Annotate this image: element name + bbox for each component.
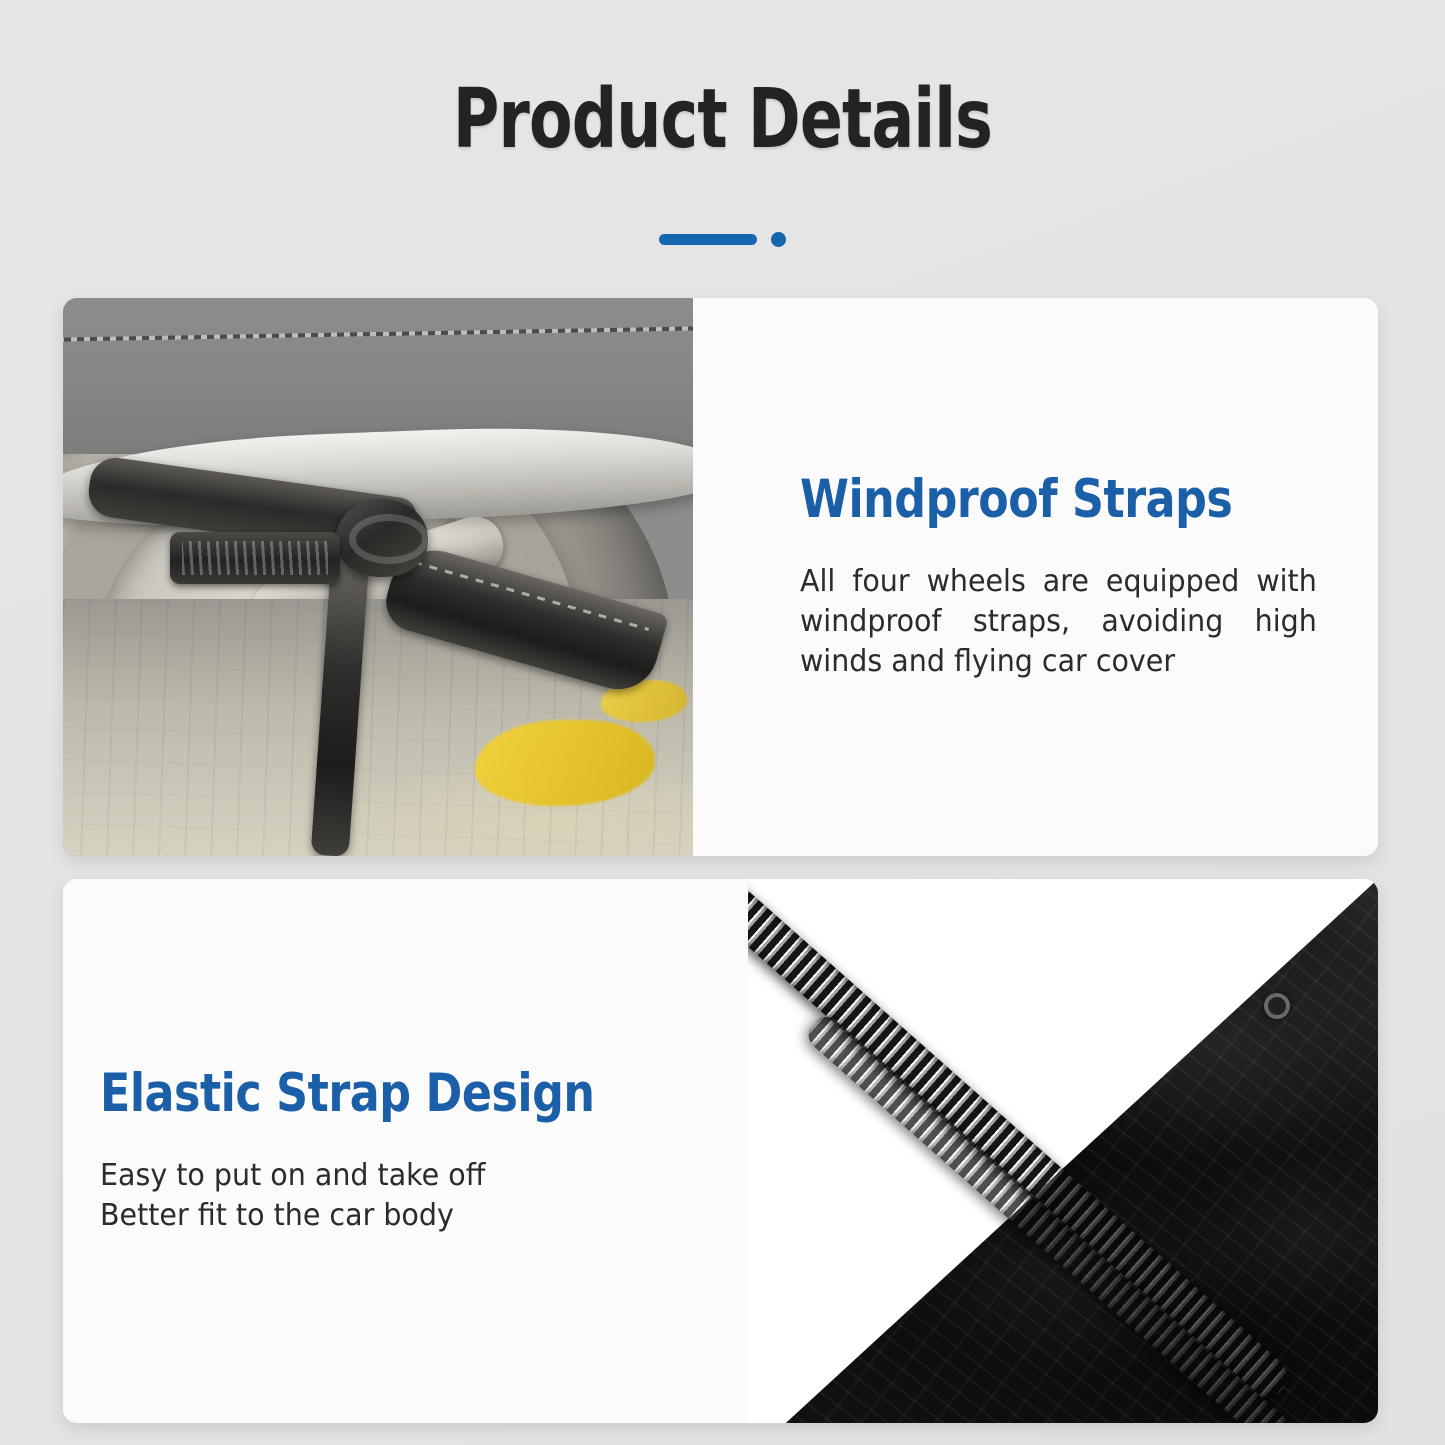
feature-body: Easy to put on and take off Better fit t… bbox=[100, 1156, 663, 1236]
feature-body-line: All four wheels are equipped with bbox=[800, 562, 1317, 602]
feature-body-line: winds and flying car cover bbox=[800, 642, 1317, 682]
black-elastic-hem-photo bbox=[748, 879, 1378, 1423]
photo-scene-wheel bbox=[63, 298, 693, 856]
cover-grommet-icon bbox=[1264, 993, 1290, 1019]
feature-title: Elastic Strap Design bbox=[100, 1066, 651, 1121]
feature-body: All four wheels are equipped with windpr… bbox=[800, 562, 1317, 682]
page-header: Product Details bbox=[0, 0, 1445, 282]
title-divider bbox=[0, 232, 1445, 247]
photo-scene-cloth bbox=[748, 879, 1378, 1423]
strap-knot-shape bbox=[336, 499, 428, 577]
feature-title: Windproof Straps bbox=[800, 472, 1306, 527]
strap-buckle-tag-shape bbox=[170, 532, 340, 584]
feature-card-elastic-strap-design[interactable]: Elastic Strap Design Easy to put on and … bbox=[63, 879, 1378, 1423]
cover-fabric-top-shape bbox=[63, 298, 693, 454]
wheel-strap-knot-photo bbox=[63, 298, 693, 856]
feature-text-pane: Windproof Straps All four wheels are equ… bbox=[693, 298, 1378, 856]
page-title: Product Details bbox=[101, 72, 1344, 167]
divider-dot bbox=[771, 232, 786, 247]
black-cover-fabric-shape bbox=[748, 879, 1378, 1423]
feature-body-line: Better fit to the car body bbox=[100, 1196, 663, 1236]
feature-body-line: windproof straps, avoiding high bbox=[800, 602, 1317, 642]
product-details-page: Product Details bbox=[0, 0, 1445, 1445]
feature-body-line: Easy to put on and take off bbox=[100, 1156, 663, 1196]
feature-card-windproof-straps[interactable]: Windproof Straps All four wheels are equ… bbox=[63, 298, 1378, 856]
divider-bar bbox=[659, 234, 757, 245]
cover-stitching-shape bbox=[63, 326, 693, 342]
feature-text-pane: Elastic Strap Design Easy to put on and … bbox=[63, 879, 753, 1423]
